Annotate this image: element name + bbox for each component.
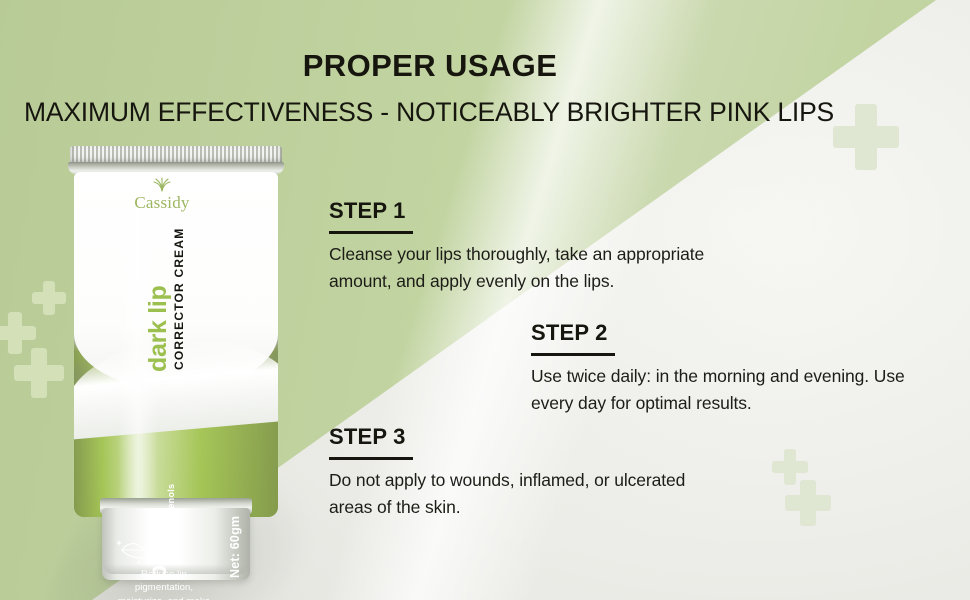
lips-icon	[116, 536, 174, 566]
step-3-text: Do not apply to wounds, inflamed, or ulc…	[329, 467, 729, 520]
step-2-label: STEP 2	[531, 320, 608, 351]
product-tube-image: Cassidy dark lip CORRECTOR CREAM belani …	[60, 140, 300, 595]
step-1: STEP 1 Cleanse your lips thoroughly, tak…	[329, 198, 729, 294]
page-title: PROPER USAGE	[0, 48, 860, 84]
leaf-emblem-icon	[151, 176, 173, 192]
cross-icon	[785, 480, 831, 526]
product-name: dark lip	[144, 285, 173, 372]
product-description: Reduce lip pigmentation, moisturize, and…	[116, 568, 212, 600]
product-usage-banner: PROPER USAGE MAXIMUM EFFECTIVENESS - NOT…	[0, 0, 970, 600]
step-3-underline	[329, 457, 413, 460]
step-2-text: Use twice daily: in the morning and even…	[531, 363, 911, 416]
net-weight: Net: 60gm	[228, 516, 242, 578]
step-3: STEP 3 Do not apply to wounds, inflamed,…	[329, 424, 729, 520]
cross-icon	[14, 348, 64, 398]
step-1-text: Cleanse your lips thoroughly, take an ap…	[329, 241, 729, 294]
brand-mark: Cassidy	[60, 176, 264, 213]
brand-name: Cassidy	[134, 193, 189, 212]
page-subtitle: MAXIMUM EFFECTIVENESS - NOTICEABLY BRIGH…	[0, 94, 858, 132]
product-type: CORRECTOR CREAM	[172, 228, 186, 370]
step-2-underline	[531, 353, 615, 356]
step-3-label: STEP 3	[329, 424, 406, 455]
step-1-label: STEP 1	[329, 198, 406, 229]
step-2: STEP 2 Use twice daily: in the morning a…	[531, 320, 911, 416]
step-1-underline	[329, 231, 413, 234]
